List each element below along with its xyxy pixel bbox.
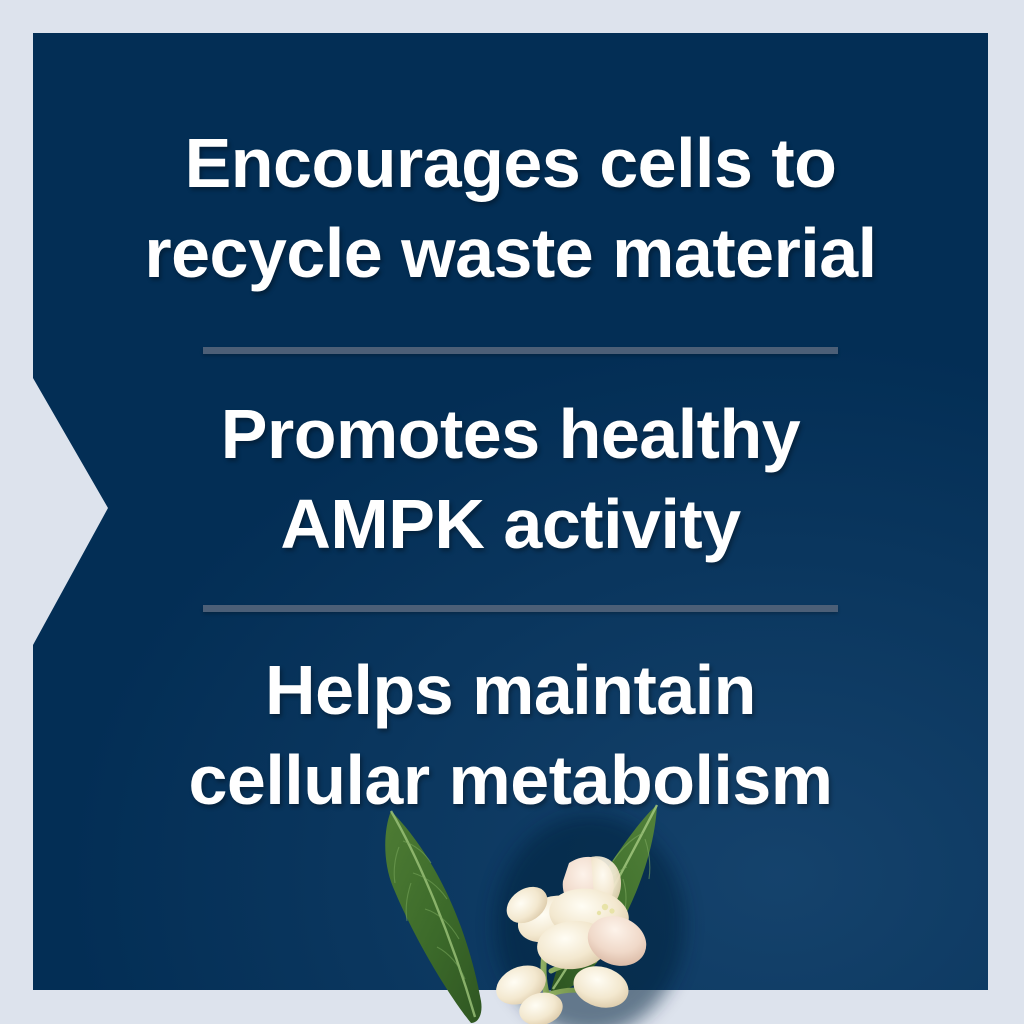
benefit-item-2: Promotes healthy AMPK activity bbox=[33, 390, 988, 569]
promo-graphic: Encourages cells to recycle waste materi… bbox=[0, 0, 1024, 1024]
benefit-item-1: Encourages cells to recycle waste materi… bbox=[33, 119, 988, 298]
benefits-list: Encourages cells to recycle waste materi… bbox=[33, 33, 988, 990]
divider-2 bbox=[203, 605, 838, 612]
benefit-item-3: Helps maintain cellular metabolism bbox=[33, 646, 988, 825]
divider-1 bbox=[203, 347, 838, 354]
